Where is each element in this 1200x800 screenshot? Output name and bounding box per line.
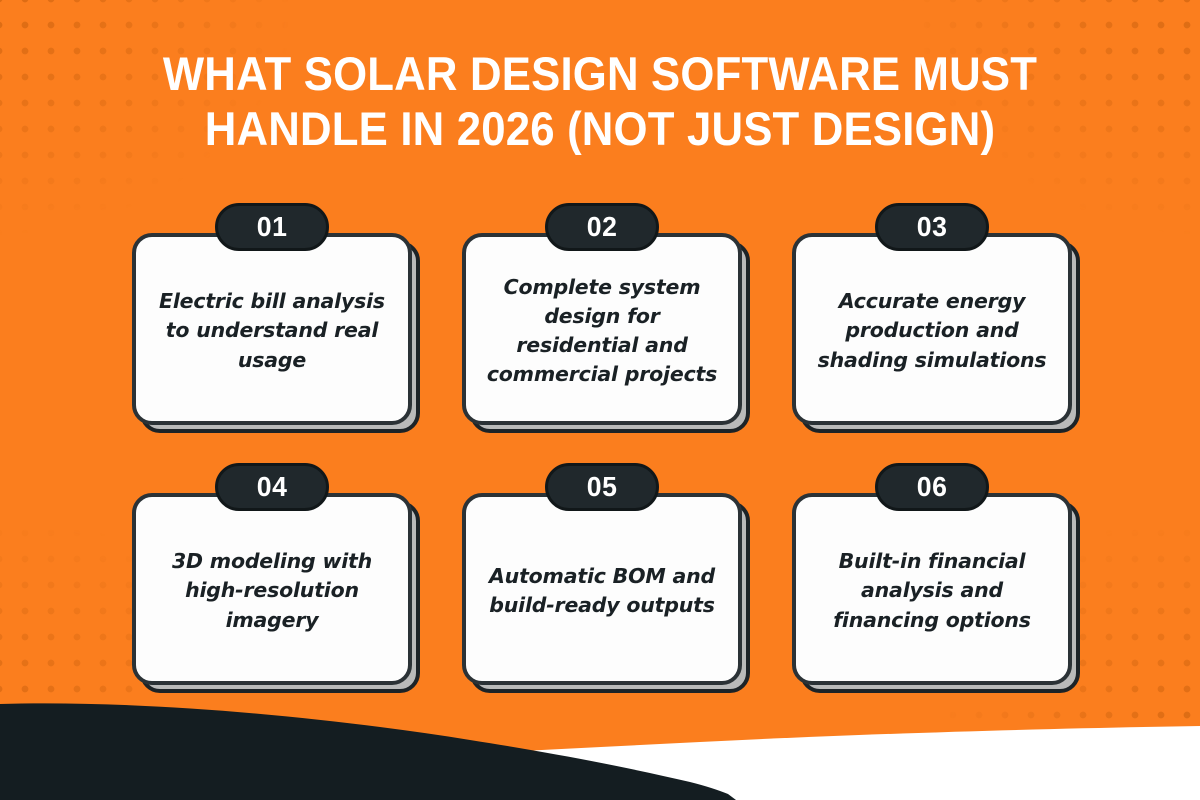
card-number: 01 — [257, 211, 288, 243]
feature-card-02[interactable]: Complete system design for residential a… — [462, 203, 742, 433]
card-number: 02 — [587, 211, 618, 243]
card-number: 04 — [257, 471, 288, 503]
card-body: Electric bill analysis to understand rea… — [132, 233, 412, 425]
bottom-wave-decoration — [0, 660, 1200, 800]
card-text: Built-in financial analysis and financin… — [814, 547, 1050, 634]
page-title: What Solar Design Software Must Handle i… — [135, 46, 1065, 157]
feature-card-06[interactable]: Built-in financial analysis and financin… — [792, 463, 1072, 693]
card-number: 05 — [587, 471, 618, 503]
card-text: Accurate energy production and shading s… — [814, 287, 1050, 374]
card-body: Built-in financial analysis and financin… — [792, 493, 1072, 685]
card-number-badge: 01 — [215, 203, 329, 251]
card-body: Accurate energy production and shading s… — [792, 233, 1072, 425]
card-text: Complete system design for residential a… — [484, 273, 720, 389]
feature-card-03[interactable]: Accurate energy production and shading s… — [792, 203, 1072, 433]
card-body: Automatic BOM and build-ready outputs — [462, 493, 742, 685]
card-number-badge: 06 — [875, 463, 989, 511]
card-text: Automatic BOM and build-ready outputs — [484, 562, 720, 620]
card-number-badge: 02 — [545, 203, 659, 251]
card-number-badge: 03 — [875, 203, 989, 251]
feature-card-04[interactable]: 3D modeling with high-resolution imagery… — [132, 463, 412, 693]
card-body: 3D modeling with high-resolution imagery — [132, 493, 412, 685]
feature-card-01[interactable]: Electric bill analysis to understand rea… — [132, 203, 412, 433]
card-number-badge: 04 — [215, 463, 329, 511]
card-number: 06 — [917, 471, 948, 503]
card-body: Complete system design for residential a… — [462, 233, 742, 425]
card-number-badge: 05 — [545, 463, 659, 511]
card-number: 03 — [917, 211, 948, 243]
feature-card-05[interactable]: Automatic BOM and build-ready outputs 05 — [462, 463, 742, 693]
feature-card-grid: Electric bill analysis to understand rea… — [132, 203, 1072, 693]
infographic-poster: What Solar Design Software Must Handle i… — [0, 0, 1200, 800]
card-text: Electric bill analysis to understand rea… — [154, 287, 390, 374]
card-text: 3D modeling with high-resolution imagery — [154, 547, 390, 634]
